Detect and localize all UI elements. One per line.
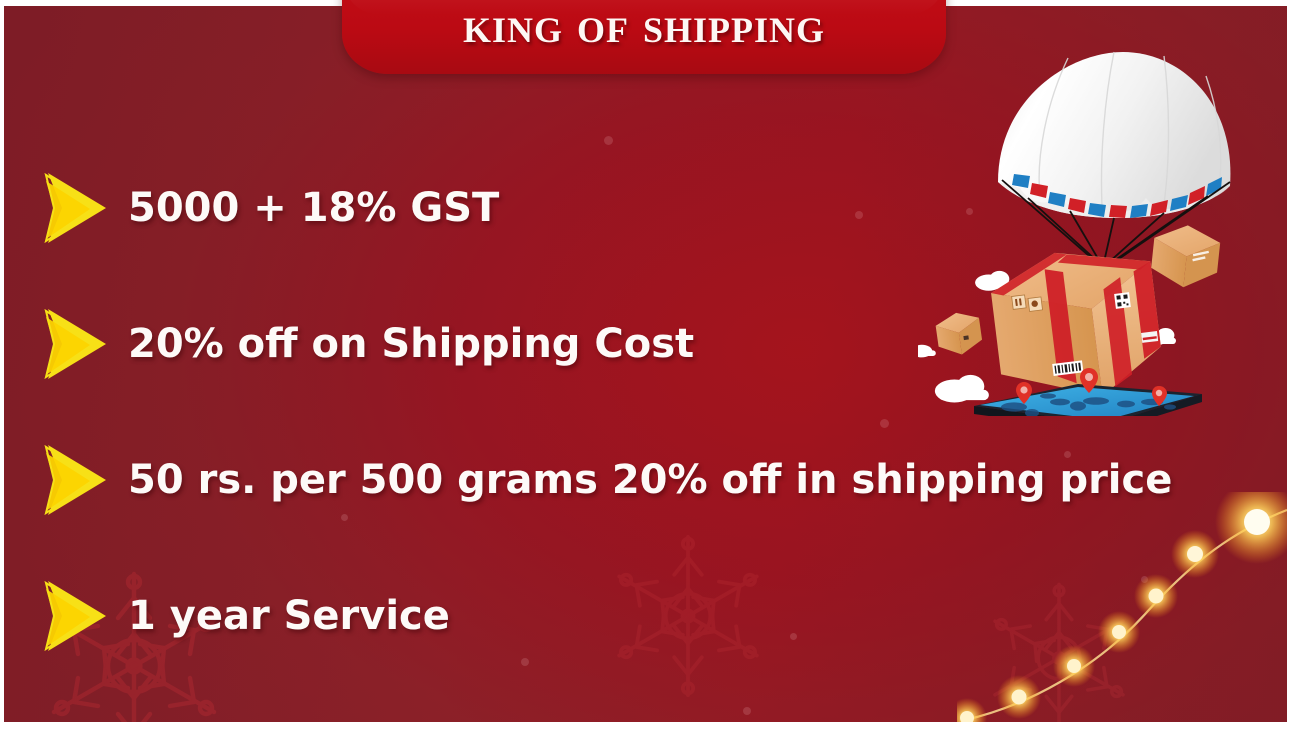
list-item[interactable]: 5000 + 18% GST xyxy=(44,140,1234,276)
page-title: King of Shipping xyxy=(342,0,946,55)
promo-banner: King of Shipping xyxy=(0,0,1291,729)
double-chevron-arrow-icon xyxy=(44,577,116,655)
title-plate: King of Shipping xyxy=(342,0,946,74)
offer-text: 5000 + 18% GST xyxy=(128,185,499,231)
offer-text: 20% off on Shipping Cost xyxy=(128,321,694,367)
list-item[interactable]: 20% off on Shipping Cost xyxy=(44,276,1234,412)
double-chevron-arrow-icon xyxy=(44,169,116,247)
offer-text: 50 rs. per 500 grams 20% off in shipping… xyxy=(128,457,1172,503)
double-chevron-arrow-icon xyxy=(44,305,116,383)
double-chevron-arrow-icon xyxy=(44,441,116,519)
list-item[interactable]: 1 year Service xyxy=(44,548,1234,684)
offer-list: 5000 + 18% GST 20% off on Shipping Cost xyxy=(44,140,1234,684)
offer-text: 1 year Service xyxy=(128,593,450,639)
background-dot xyxy=(743,707,751,715)
list-item[interactable]: 50 rs. per 500 grams 20% off in shipping… xyxy=(44,412,1234,548)
